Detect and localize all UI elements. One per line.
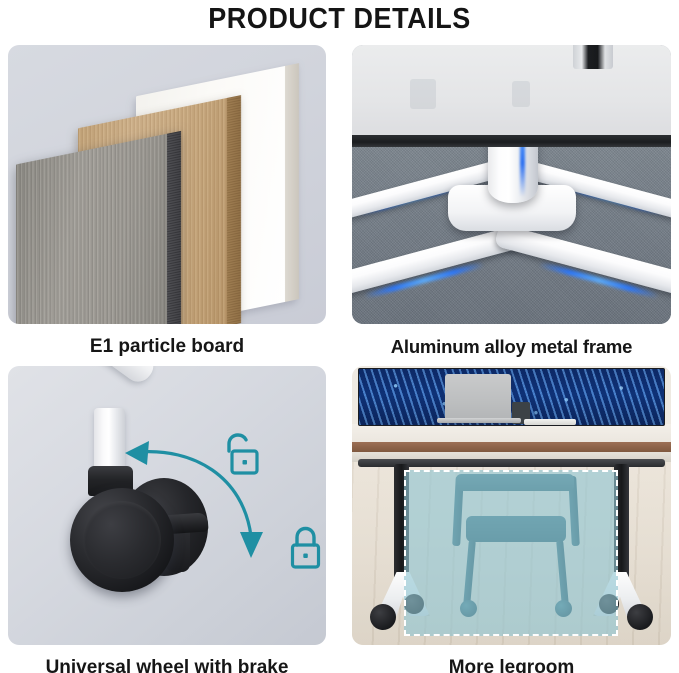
legroom-highlight-area [404, 470, 618, 636]
board-face [16, 134, 168, 324]
panel-more-legroom: More legroom [352, 366, 671, 673]
board-edge [227, 95, 241, 324]
e1-particle-board-image [8, 45, 326, 324]
laptop [445, 374, 511, 422]
legroom-scene [352, 366, 671, 645]
unlock-icon [220, 431, 260, 477]
desk-edge-strip [352, 135, 671, 147]
laptop-base [437, 418, 521, 423]
surface-marking [410, 79, 436, 109]
panel-universal-wheel-with-brake: Universal wheel with brake [8, 366, 326, 673]
desk-accessory [524, 419, 576, 425]
rotation-arrow-icon [123, 436, 308, 566]
panel-aluminum-alloy-metal-frame: Aluminum alloy metal frame [352, 45, 671, 370]
more-legroom-image [352, 366, 671, 645]
universal-wheel-image [8, 366, 326, 645]
panel-caption-more-legroom: More legroom [352, 650, 671, 673]
panel-caption-aluminum-alloy-metal-frame: Aluminum alloy metal frame [352, 329, 671, 369]
aluminum-frame-image [352, 45, 671, 324]
board-edge [167, 131, 181, 324]
desk-caster-front-left [370, 604, 396, 630]
page-title: PRODUCT DETAILS [24, 2, 655, 36]
board-edge [285, 63, 299, 302]
lock-icon [285, 524, 325, 570]
panel-caption-universal-wheel-with-brake: Universal wheel with brake [8, 650, 326, 673]
surface-marking [512, 81, 530, 107]
panel-e1-particle-board: E1 particle board [8, 45, 326, 370]
board-sample-gray [16, 134, 168, 324]
desk-underside [352, 45, 671, 138]
desk-leg-stem [94, 408, 125, 474]
frame-scene [352, 45, 671, 324]
product-details-infographic: PRODUCT DETAILS E1 particle board [0, 0, 679, 673]
bracket-mount-block [573, 45, 613, 69]
desk-caster-front-right [627, 604, 653, 630]
panel-caption-e1-particle-board: E1 particle board [8, 329, 326, 369]
